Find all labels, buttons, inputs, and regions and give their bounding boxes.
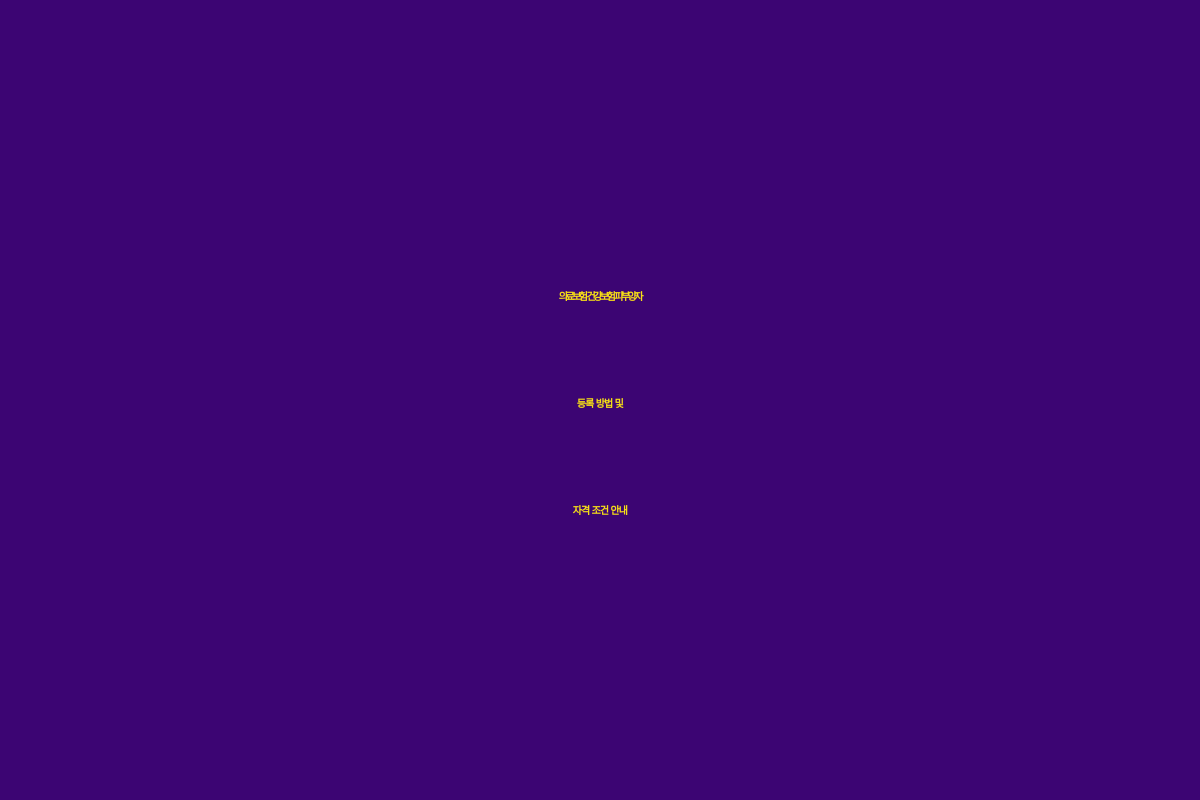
title-line-3: 자격 조건 안내 <box>0 458 1200 565</box>
title-line-1: 의료보험 건강보험 피부양자 <box>0 244 1200 351</box>
title-block: 의료보험 건강보험 피부양자 등록 방법 및 자격 조건 안내 <box>0 244 1200 565</box>
thumbnail-canvas: 의료보험 건강보험 피부양자 등록 방법 및 자격 조건 안내 <box>0 0 1200 800</box>
title-line-2: 등록 방법 및 <box>0 351 1200 458</box>
